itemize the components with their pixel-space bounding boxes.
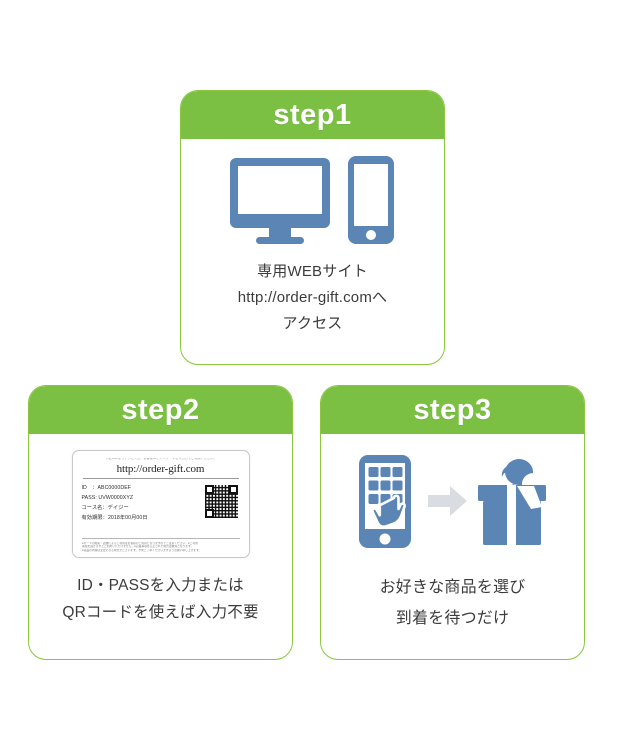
step2-illustration: 下記URLよりアクセスし、お客様IDとパスワードを入力してご利用ください。 ht… bbox=[29, 440, 292, 568]
step2-caption: ID・PASSを入力または QRコードを使えば入力不要 bbox=[54, 572, 266, 626]
step1-header: step1 bbox=[181, 91, 444, 139]
step1-body: 専用WEBサイト http://order-gift.comへ アクセス bbox=[181, 139, 444, 364]
step1-illustration bbox=[181, 145, 444, 257]
qr-finder-bottom-left bbox=[205, 509, 214, 518]
step2-header: step2 bbox=[29, 386, 292, 434]
voucher-field-id: ID ：ABC0000DEF bbox=[82, 483, 148, 493]
smartphone-icon bbox=[348, 156, 394, 244]
step1-caption-line-2: http://order-gift.comへ bbox=[238, 285, 387, 311]
voucher-field-pass: PASS: UVW0000XYZ bbox=[82, 493, 148, 503]
voucher-details: ID ：ABC0000DEF PASS: UVW0000XYZ コース名：デイジ… bbox=[82, 483, 240, 524]
step-card-step3: step3 bbox=[320, 385, 585, 660]
step3-illustration bbox=[321, 440, 584, 562]
voucher-fine-line-3: ●商品の内容は変更になる場合がございます。予めご了承くださいますようお願い申し上… bbox=[82, 549, 256, 553]
voucher-field-course: コース名：デイジー bbox=[82, 503, 148, 513]
step1-caption: 専用WEBサイト http://order-gift.comへ アクセス bbox=[230, 259, 395, 336]
step3-header: step3 bbox=[321, 386, 584, 434]
infographic-stage: step1 bbox=[0, 0, 625, 750]
step-card-step1: step1 bbox=[180, 90, 445, 365]
step1-caption-line-1: 専用WEBサイト bbox=[238, 259, 387, 285]
step2-header-label: step2 bbox=[121, 396, 199, 425]
step-card-step2: step2 下記URLよりアクセスし、お客様IDとパスワードを入力してご利用くだ… bbox=[28, 385, 293, 660]
step2-caption-line-1: ID・PASSを入力または bbox=[62, 572, 258, 599]
gift-box-icon bbox=[476, 455, 548, 547]
voucher-fine-print: ●カードの紛失・盗難によるご利用はお客様のご負担となりますのでご注意ください。●… bbox=[82, 538, 240, 552]
step3-header-label: step3 bbox=[413, 396, 491, 425]
voucher-field-list: ID ：ABC0000DEF PASS: UVW0000XYZ コース名：デイジ… bbox=[82, 483, 148, 524]
step1-caption-line-3: アクセス bbox=[238, 311, 387, 337]
step3-body: お好きな商品を選び 到着を待つだけ bbox=[321, 434, 584, 659]
qr-code-icon bbox=[204, 484, 239, 519]
voucher-fine-divider bbox=[82, 538, 240, 539]
arrow-right-icon bbox=[428, 485, 468, 517]
step3-caption: お好きな商品を選び 到着を待つだけ bbox=[372, 572, 534, 634]
step1-header-label: step1 bbox=[273, 101, 351, 130]
gift-voucher-card-icon: 下記URLよりアクセスし、お客様IDとパスワードを入力してご利用ください。 ht… bbox=[72, 450, 250, 558]
step2-caption-line-2: QRコードを使えば入力不要 bbox=[62, 599, 258, 626]
desktop-monitor-icon bbox=[230, 158, 330, 244]
voucher-field-expiry: 有効期限：2018年00月00日 bbox=[82, 513, 148, 523]
step3-caption-line-2: 到着を待つだけ bbox=[380, 603, 526, 634]
voucher-note: 下記URLよりアクセスし、お客様IDとパスワードを入力してご利用ください。 bbox=[67, 458, 253, 461]
smartphone-tap-icon bbox=[358, 454, 420, 549]
step3-caption-line-1: お好きな商品を選び bbox=[380, 572, 526, 603]
voucher-divider bbox=[83, 478, 239, 479]
step2-body: 下記URLよりアクセスし、お客様IDとパスワードを入力してご利用ください。 ht… bbox=[29, 434, 292, 659]
voucher-url: http://order-gift.com bbox=[82, 463, 240, 475]
